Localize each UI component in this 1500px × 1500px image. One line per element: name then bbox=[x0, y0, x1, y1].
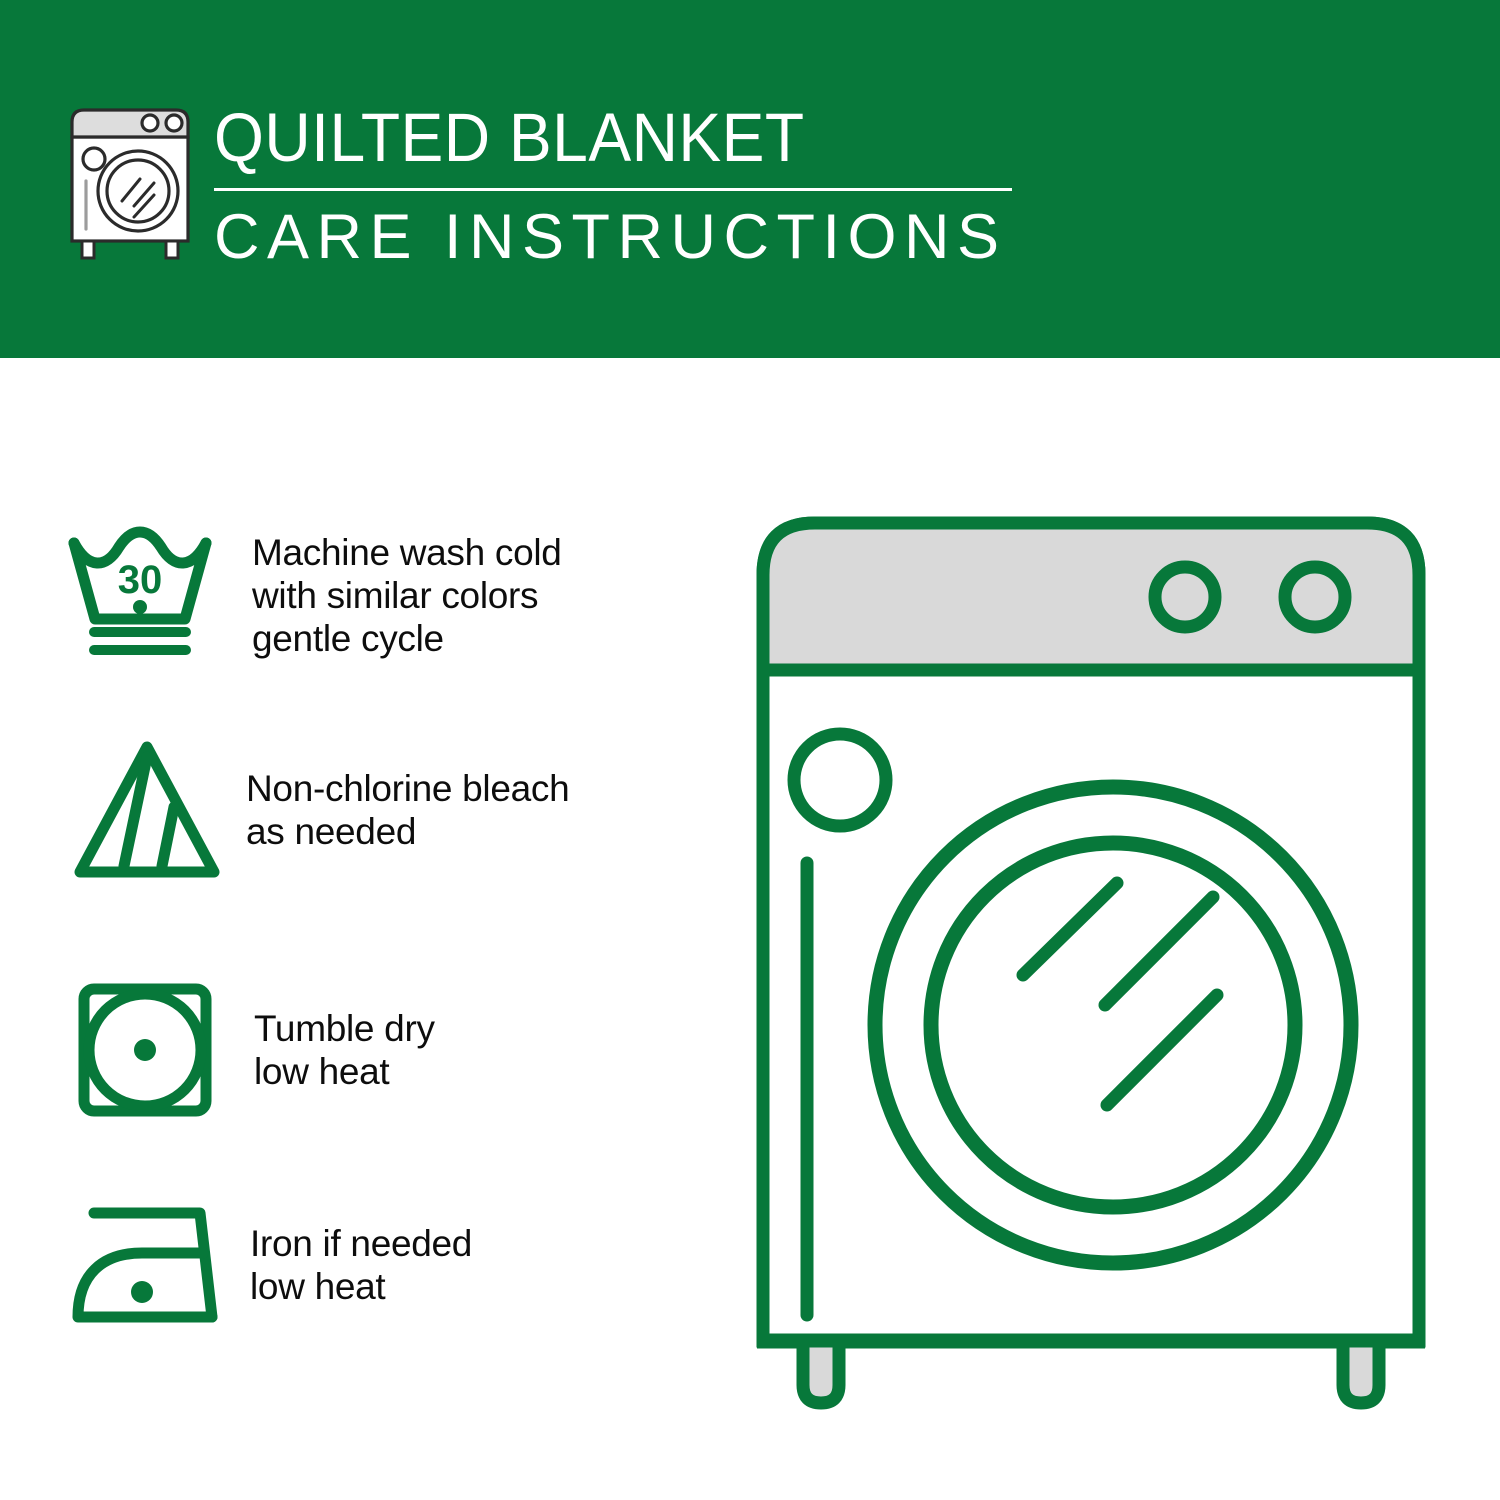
care-item-iron: Iron if needed low heat bbox=[62, 1190, 722, 1340]
knob-right bbox=[1285, 567, 1345, 627]
care-instructions-infographic: QUILTED BLANKET CARE INSTRUCTIONS 30 Mac… bbox=[0, 0, 1500, 1500]
detergent-indicator-circle bbox=[794, 734, 886, 826]
care-item-machine-wash: 30 Machine wash cold with similar colors… bbox=[62, 520, 722, 670]
drum-door-inner-ring bbox=[931, 843, 1295, 1207]
iron-low-heat-icon bbox=[62, 1195, 232, 1335]
non-chlorine-bleach-triangle-icon bbox=[62, 735, 232, 885]
svg-text:30: 30 bbox=[118, 558, 163, 602]
care-item-label: Non-chlorine bleach as needed bbox=[246, 767, 569, 853]
header-banner: QUILTED BLANKET CARE INSTRUCTIONS bbox=[0, 0, 1500, 358]
leg-left bbox=[803, 1341, 839, 1403]
care-item-bleach: Non-chlorine bleach as needed bbox=[62, 735, 722, 885]
page-subtitle: CARE INSTRUCTIONS bbox=[214, 202, 1024, 272]
title-divider bbox=[214, 188, 1012, 191]
care-item-label: Tumble dry low heat bbox=[254, 1007, 435, 1093]
header-text-block: QUILTED BLANKET CARE INSTRUCTIONS bbox=[214, 100, 1024, 272]
washing-machine-icon bbox=[62, 105, 202, 265]
tumble-dry-low-icon bbox=[62, 975, 232, 1125]
front-load-washing-machine-illustration bbox=[745, 505, 1455, 1415]
care-item-label: Machine wash cold with similar colors ge… bbox=[252, 531, 562, 660]
care-item-tumble-dry: Tumble dry low heat bbox=[62, 975, 722, 1125]
knob-left bbox=[1155, 567, 1215, 627]
page-title: QUILTED BLANKET bbox=[214, 100, 967, 176]
care-item-label: Iron if needed low heat bbox=[250, 1222, 472, 1308]
leg-right bbox=[1343, 1341, 1379, 1403]
wash-tub-30-icon: 30 bbox=[62, 525, 232, 665]
